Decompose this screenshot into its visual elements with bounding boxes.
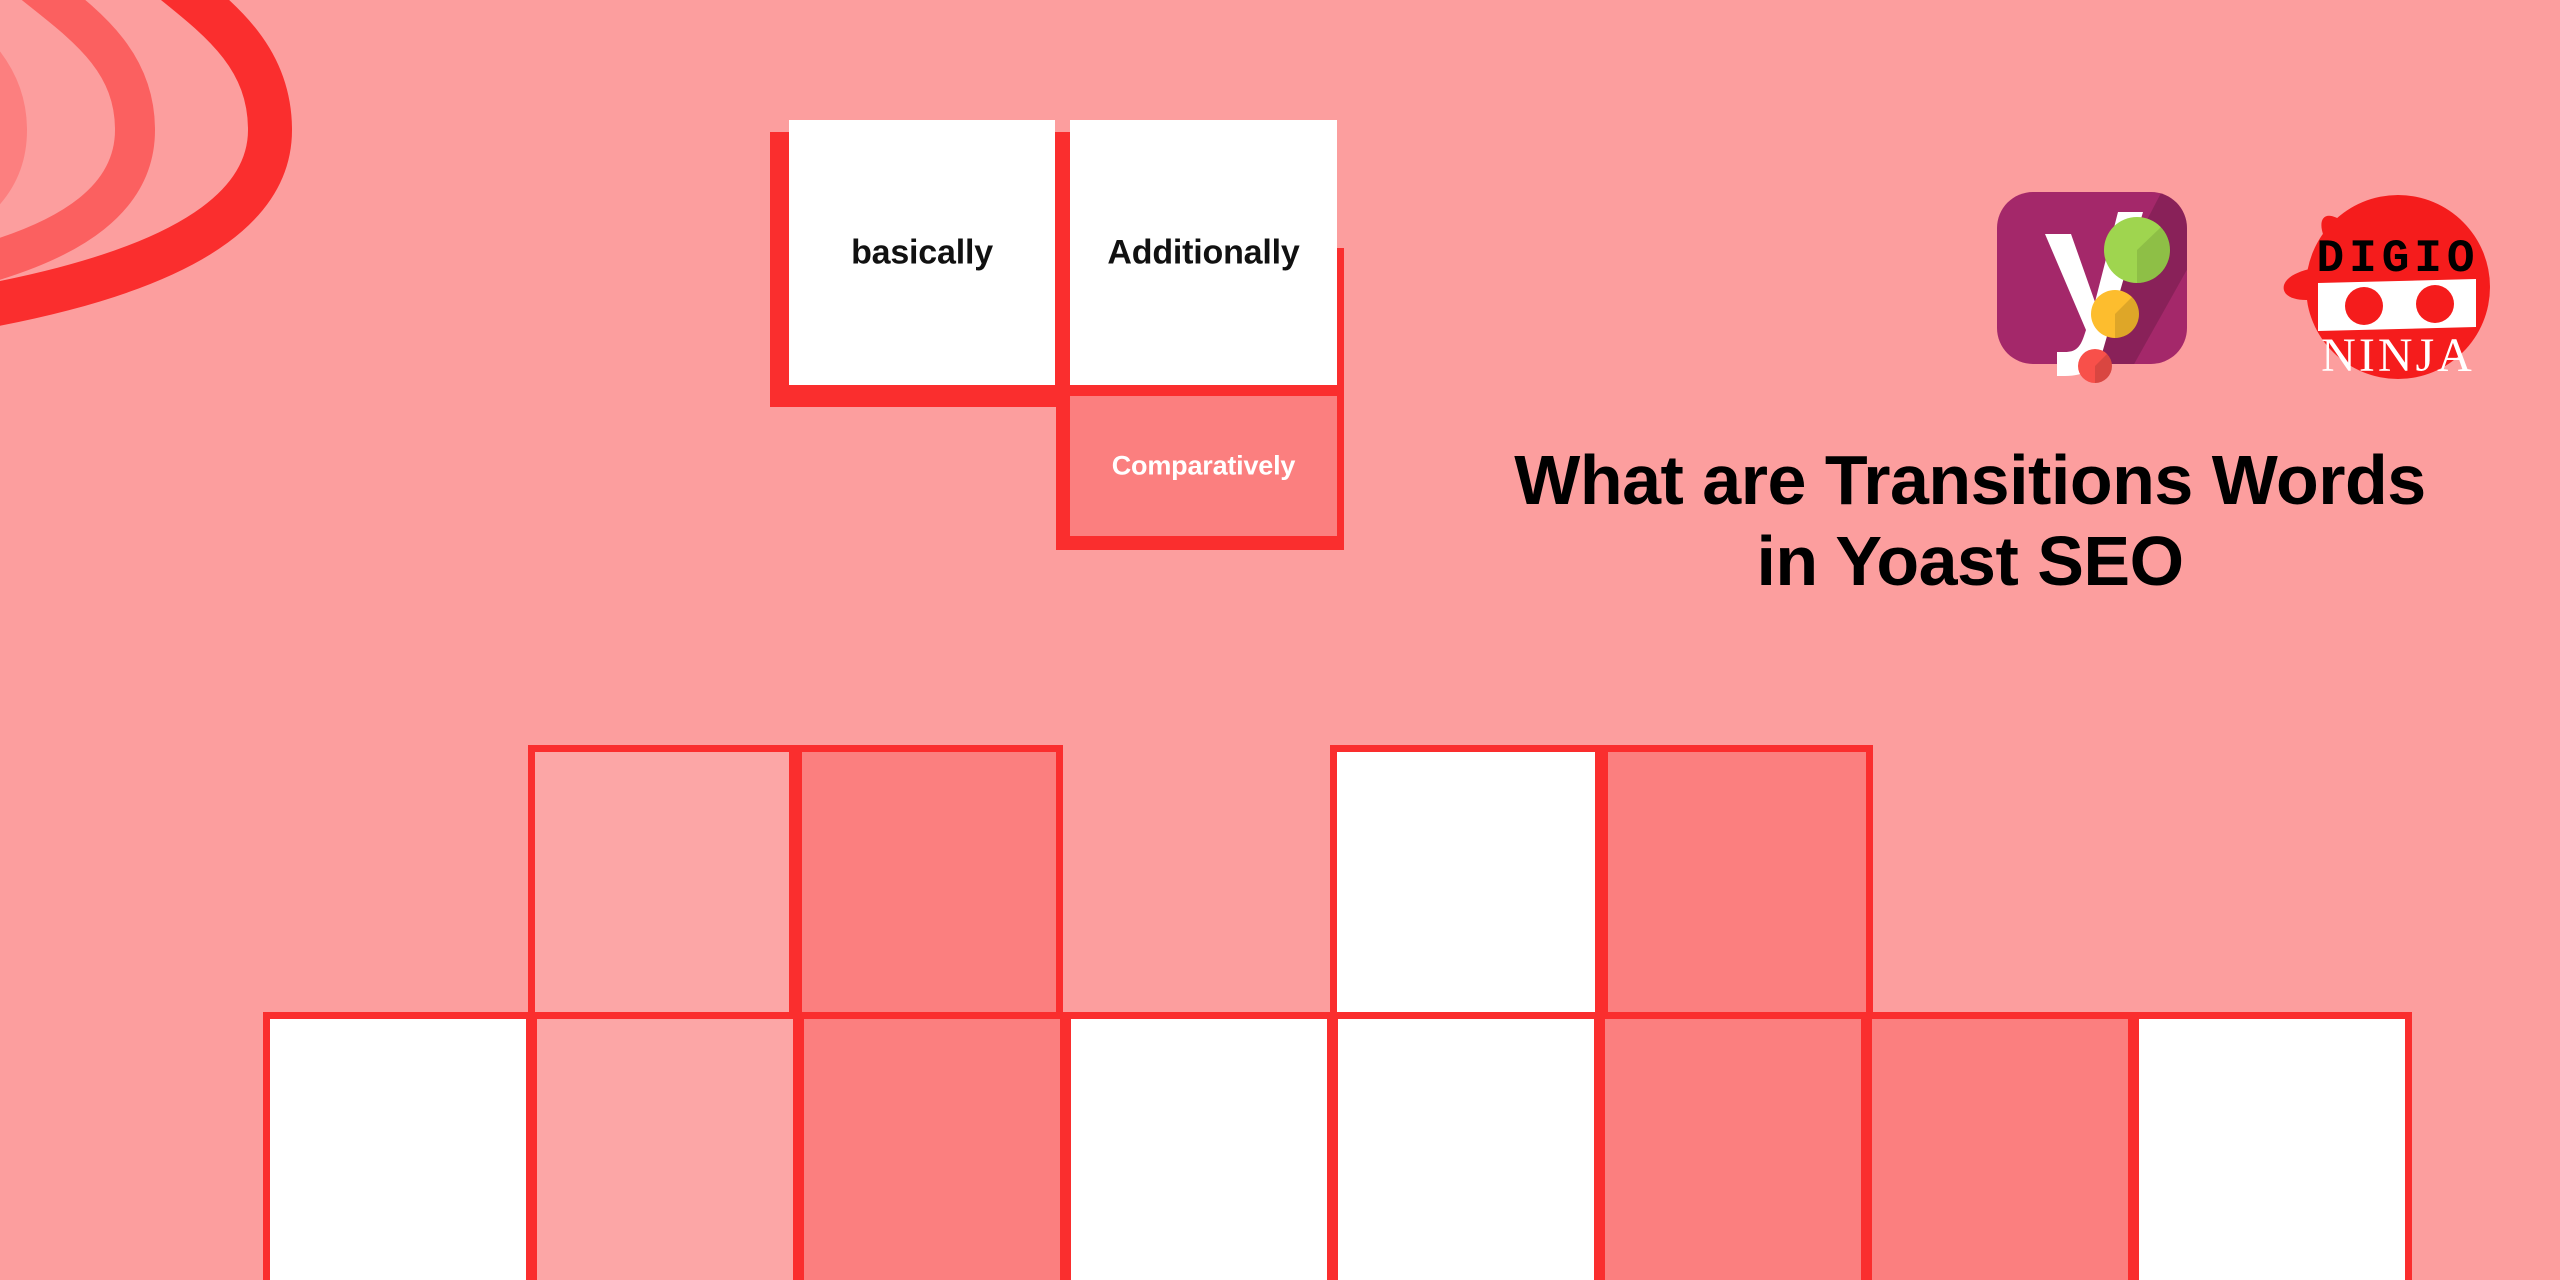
grid-cell-bottom-2[interactable]	[530, 1012, 800, 1280]
grid-cell-bottom-8[interactable]	[2132, 1012, 2412, 1280]
grid-cell-bottom-4[interactable]	[1064, 1012, 1334, 1280]
tetromino-group: basically Additionally Comparatively	[770, 120, 1370, 440]
tile-comparatively[interactable]: Comparatively	[1070, 396, 1337, 536]
digio-ninja-word-bottom: NINJA	[2321, 329, 2475, 382]
digio-ninja-eye-right	[2416, 285, 2454, 323]
digio-ninja-logo[interactable]: DIGIO NINJA	[2280, 175, 2492, 395]
grid-cell-mid-1[interactable]	[528, 745, 796, 1020]
yoast-logo[interactable]	[1985, 186, 2205, 386]
grid-cell-bottom-7[interactable]	[1865, 1012, 2135, 1280]
tile-additionally-label: Additionally	[1070, 233, 1337, 272]
digio-ninja-eye-left	[2345, 287, 2383, 325]
grid-cell-bottom-3[interactable]	[797, 1012, 1067, 1280]
tile-basically[interactable]: basically	[789, 120, 1055, 385]
grid-cell-bottom-6[interactable]	[1598, 1012, 1868, 1280]
tile-comparatively-label: Comparatively	[1070, 451, 1337, 482]
digio-ninja-word-top: DIGIO	[2316, 233, 2479, 285]
grid-cell-bottom-5[interactable]	[1331, 1012, 1601, 1280]
poster-canvas: basically Additionally Comparatively	[0, 0, 2560, 1280]
swirl-line-front	[0, 0, 270, 346]
tile-additionally[interactable]: Additionally	[1070, 120, 1337, 385]
grid-cell-mid-3[interactable]	[1330, 745, 1602, 1020]
grid-cell-mid-4[interactable]	[1601, 745, 1873, 1020]
page-title-line-1: What are Transitions Words	[1380, 440, 2560, 521]
grid-cell-bottom-1[interactable]	[263, 1012, 533, 1280]
swirl-line-mid	[0, 0, 135, 312]
decorative-swirl-group	[0, 0, 520, 440]
page-title-line-2: in Yoast SEO	[1380, 521, 2560, 602]
tile-basically-label: basically	[789, 233, 1055, 272]
grid-cell-mid-2[interactable]	[795, 745, 1063, 1020]
page-title: What are Transitions Words in Yoast SEO	[1380, 440, 2560, 602]
swirl-line-back	[0, 0, 10, 280]
